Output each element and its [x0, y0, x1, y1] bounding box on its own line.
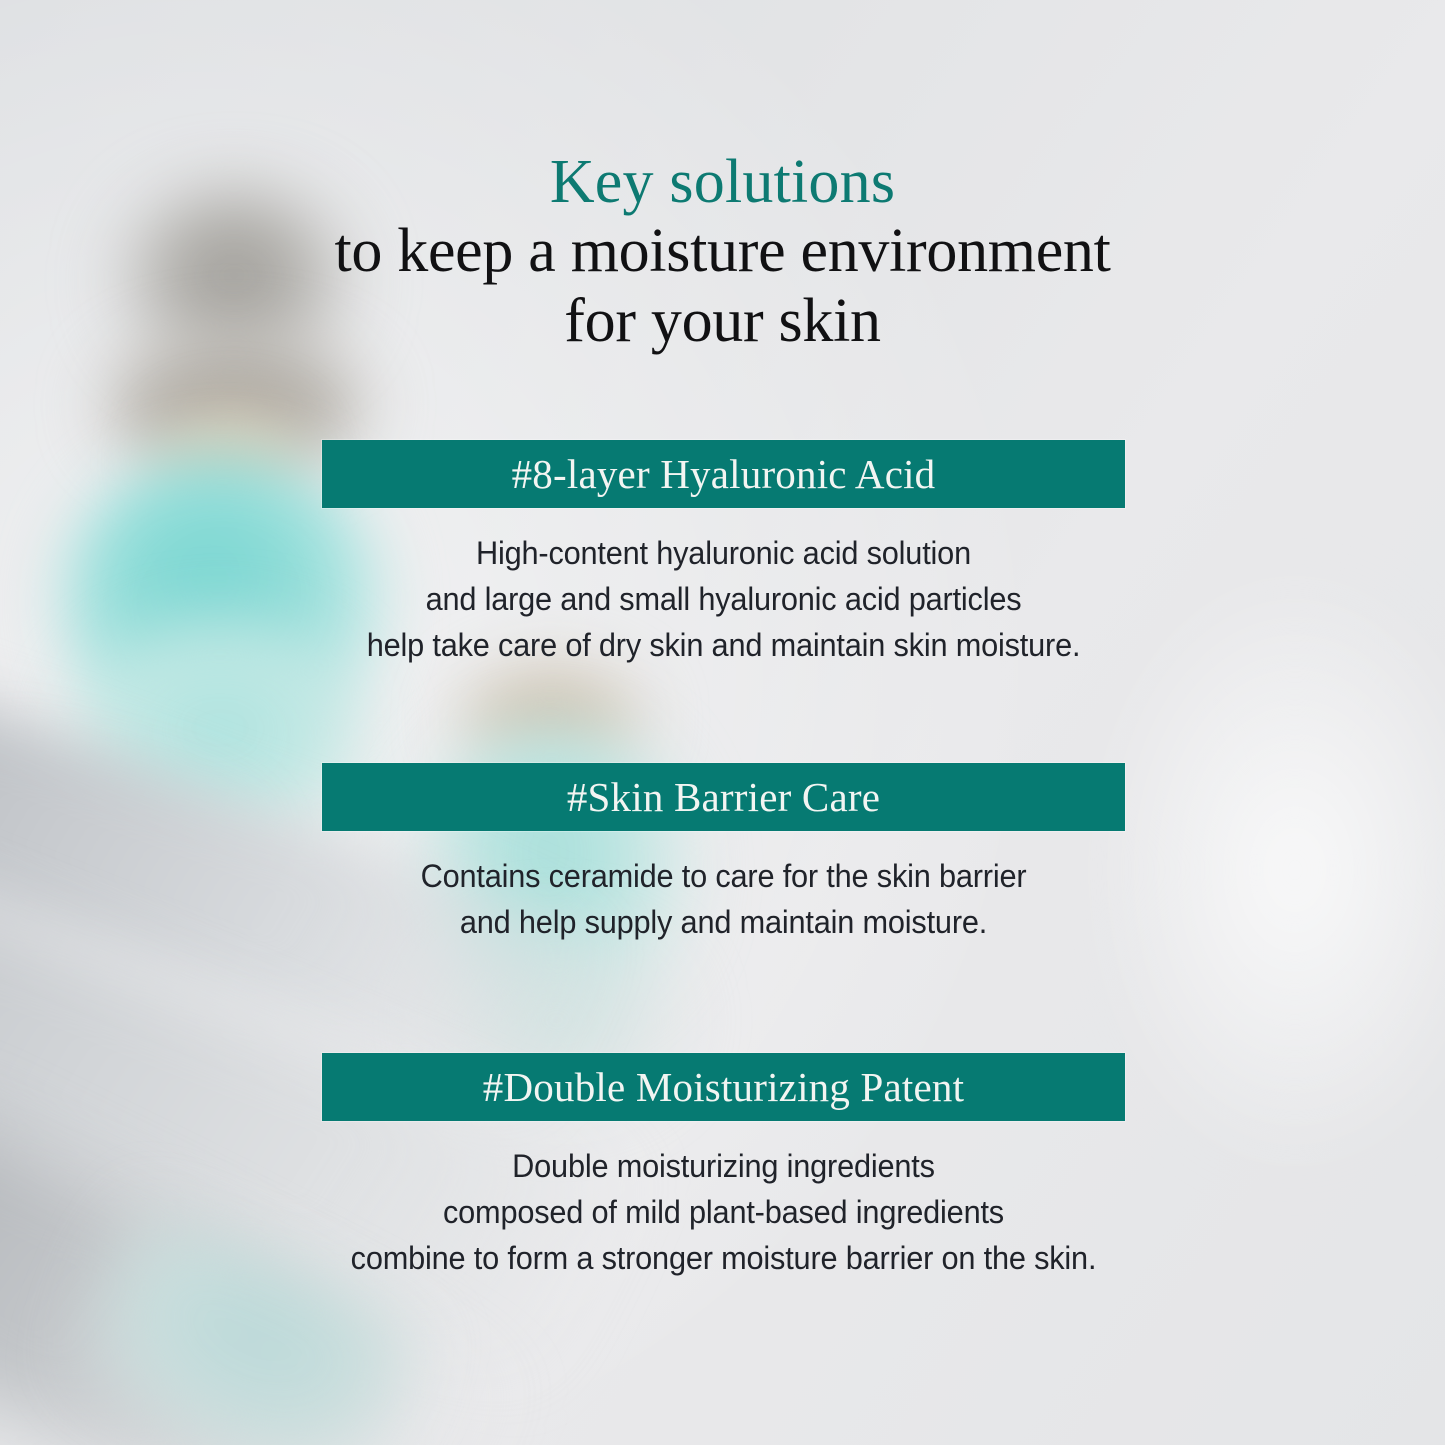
solution-section-double-moisturizing: #Double Moisturizing Patent Double moist… — [322, 1053, 1125, 1281]
solution-section-hyaluronic-acid: #8-layer Hyaluronic Acid High-content hy… — [322, 440, 1125, 668]
body-text-hyaluronic-acid: High-content hyaluronic acid solution an… — [338, 530, 1109, 668]
headline-accent: Key solutions — [0, 148, 1445, 217]
banner-label: #Skin Barrier Care — [567, 773, 880, 821]
page-headline: Key solutions to keep a moisture environ… — [0, 148, 1445, 356]
body-line: Double moisturizing ingredients — [338, 1143, 1109, 1189]
body-line: and help supply and maintain moisture. — [338, 899, 1109, 945]
body-text-double-moisturizing: Double moisturizing ingredients composed… — [338, 1143, 1109, 1281]
body-line: combine to form a stronger moisture barr… — [338, 1235, 1109, 1281]
body-line: and large and small hyaluronic acid part… — [338, 576, 1109, 622]
solution-section-skin-barrier: #Skin Barrier Care Contains ceramide to … — [322, 763, 1125, 945]
body-line: High-content hyaluronic acid solution — [338, 530, 1109, 576]
body-line: composed of mild plant-based ingredients — [338, 1189, 1109, 1235]
banner-label: #8-layer Hyaluronic Acid — [512, 450, 936, 498]
body-text-skin-barrier: Contains ceramide to care for the skin b… — [338, 853, 1109, 945]
banner-skin-barrier: #Skin Barrier Care — [322, 763, 1125, 831]
banner-double-moisturizing: #Double Moisturizing Patent — [322, 1053, 1125, 1121]
banner-hyaluronic-acid: #8-layer Hyaluronic Acid — [322, 440, 1125, 508]
body-line: help take care of dry skin and maintain … — [338, 622, 1109, 668]
banner-label: #Double Moisturizing Patent — [483, 1063, 964, 1111]
headline-line-2: to keep a moisture environment — [0, 217, 1445, 286]
headline-line-3: for your skin — [0, 287, 1445, 356]
body-line: Contains ceramide to care for the skin b… — [338, 853, 1109, 899]
content-layer: Key solutions to keep a moisture environ… — [0, 0, 1445, 1445]
infographic-canvas: Key solutions to keep a moisture environ… — [0, 0, 1445, 1445]
